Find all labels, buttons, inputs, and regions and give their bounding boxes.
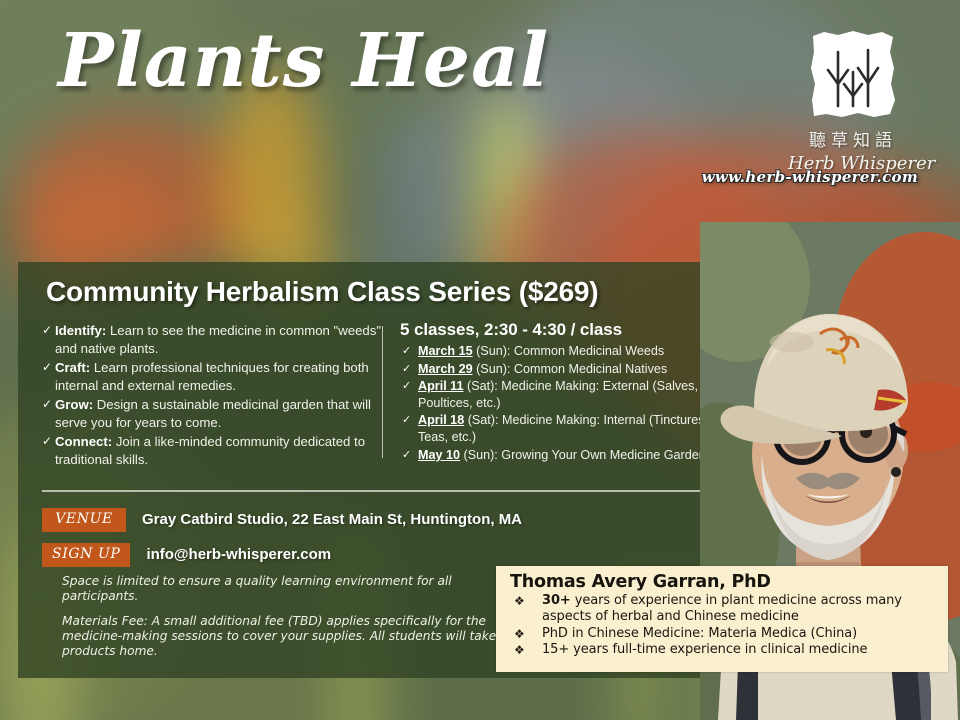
schedule-item: ✓ May 10 (Sun): Growing Your Own Medicin… [400,447,730,464]
column-divider [382,326,383,458]
benefit-text: Learn professional techniques for creati… [55,360,369,393]
fineprint-materials-fee: Materials Fee: A small additional fee (T… [62,614,510,659]
check-icon: ✓ [402,412,411,429]
website-url[interactable]: www.herb-whisperer.com [702,168,918,186]
diamond-bullet-icon: ❖ [514,642,525,658]
schedule-title: 5 classes, 2:30 - 4:30 / class [400,320,730,340]
bio-item: ❖ 15+ years full-time experience in clin… [510,642,938,658]
schedule-text: (Sun): Growing Your Own Medicine Garden [460,448,706,462]
schedule-item: ✓ April 18 (Sat): Medicine Making: Inter… [400,412,730,445]
instructor-name: Thomas Avery Garran, PhD [510,572,938,592]
section-divider [42,490,708,492]
benefits-column: ✓ Identify: Learn to see the medicine in… [42,322,382,470]
schedule-text: (Sun): Common Medicinal Natives [473,362,668,376]
herb-whisperer-brush-square-logo [808,28,898,120]
schedule-text: (Sun): Common Medicinal Weeds [473,344,665,358]
check-icon: ✓ [402,378,411,395]
signup-email[interactable]: info@herb-whisperer.com [146,546,331,563]
benefit-label: Grow: [55,397,93,412]
check-icon: ✓ [42,322,52,340]
bio-text: 15+ years full-time experience in clinic… [542,642,867,657]
logo-chinese-name: 聽草知語 [788,126,918,151]
schedule-date: May 10 [418,448,460,462]
bio-text: PhD in Chinese Medicine: Materia Medica … [542,626,857,641]
benefit-label: Identify: [55,323,106,338]
bio-item: ❖ 30+ years of experience in plant medic… [510,593,938,626]
brand-title: Plants Heal [58,22,549,102]
signup-row: SIGN UP info@herb-whisperer.com [42,543,331,567]
fineprint-space-limited: Space is limited to ensure a quality lea… [62,574,510,604]
schedule-date: March 15 [418,344,473,358]
benefit-text: Design a sustainable medicinal garden th… [55,397,371,430]
schedule-item: ✓ March 15 (Sun): Common Medicinal Weeds [400,343,730,360]
bio-text: years of experience in plant medicine ac… [542,593,902,624]
diamond-bullet-icon: ❖ [514,626,525,642]
schedule-column: 5 classes, 2:30 - 4:30 / class ✓ March 1… [400,320,730,464]
panel-heading: Community Herbalism Class Series ($269) [46,276,598,308]
check-icon: ✓ [42,359,52,377]
schedule-date: April 18 [418,413,464,427]
benefit-item: ✓ Connect: Join a like-minded community … [42,433,382,468]
bio-strong: 30+ [542,593,571,608]
check-icon: ✓ [42,396,52,414]
diamond-bullet-icon: ❖ [514,593,525,609]
check-icon: ✓ [402,447,411,464]
venue-address: Gray Catbird Studio, 22 East Main St, Hu… [142,511,522,528]
venue-row: VENUE Gray Catbird Studio, 22 East Main … [42,508,522,532]
benefit-label: Craft: [55,360,90,375]
check-icon: ✓ [402,361,411,378]
signup-badge: SIGN UP [42,543,130,567]
benefit-item: ✓ Identify: Learn to see the medicine in… [42,322,382,357]
brand-logo-block: 聽草知語 Herb Whisperer [788,28,918,174]
venue-badge: VENUE [42,508,126,532]
check-icon: ✓ [402,343,411,360]
benefit-item: ✓ Craft: Learn professional techniques f… [42,359,382,394]
instructor-bio-card: Thomas Avery Garran, PhD ❖ 30+ years of … [496,566,948,672]
bio-item: ❖ PhD in Chinese Medicine: Materia Medic… [510,626,938,642]
schedule-item: ✓ March 29 (Sun): Common Medicinal Nativ… [400,361,730,378]
schedule-date: March 29 [418,362,473,376]
schedule-date: April 11 [418,379,464,393]
benefit-item: ✓ Grow: Design a sustainable medicinal g… [42,396,382,431]
benefit-label: Connect: [55,434,112,449]
schedule-item: ✓ April 11 (Sat): Medicine Making: Exter… [400,378,730,411]
check-icon: ✓ [42,433,52,451]
